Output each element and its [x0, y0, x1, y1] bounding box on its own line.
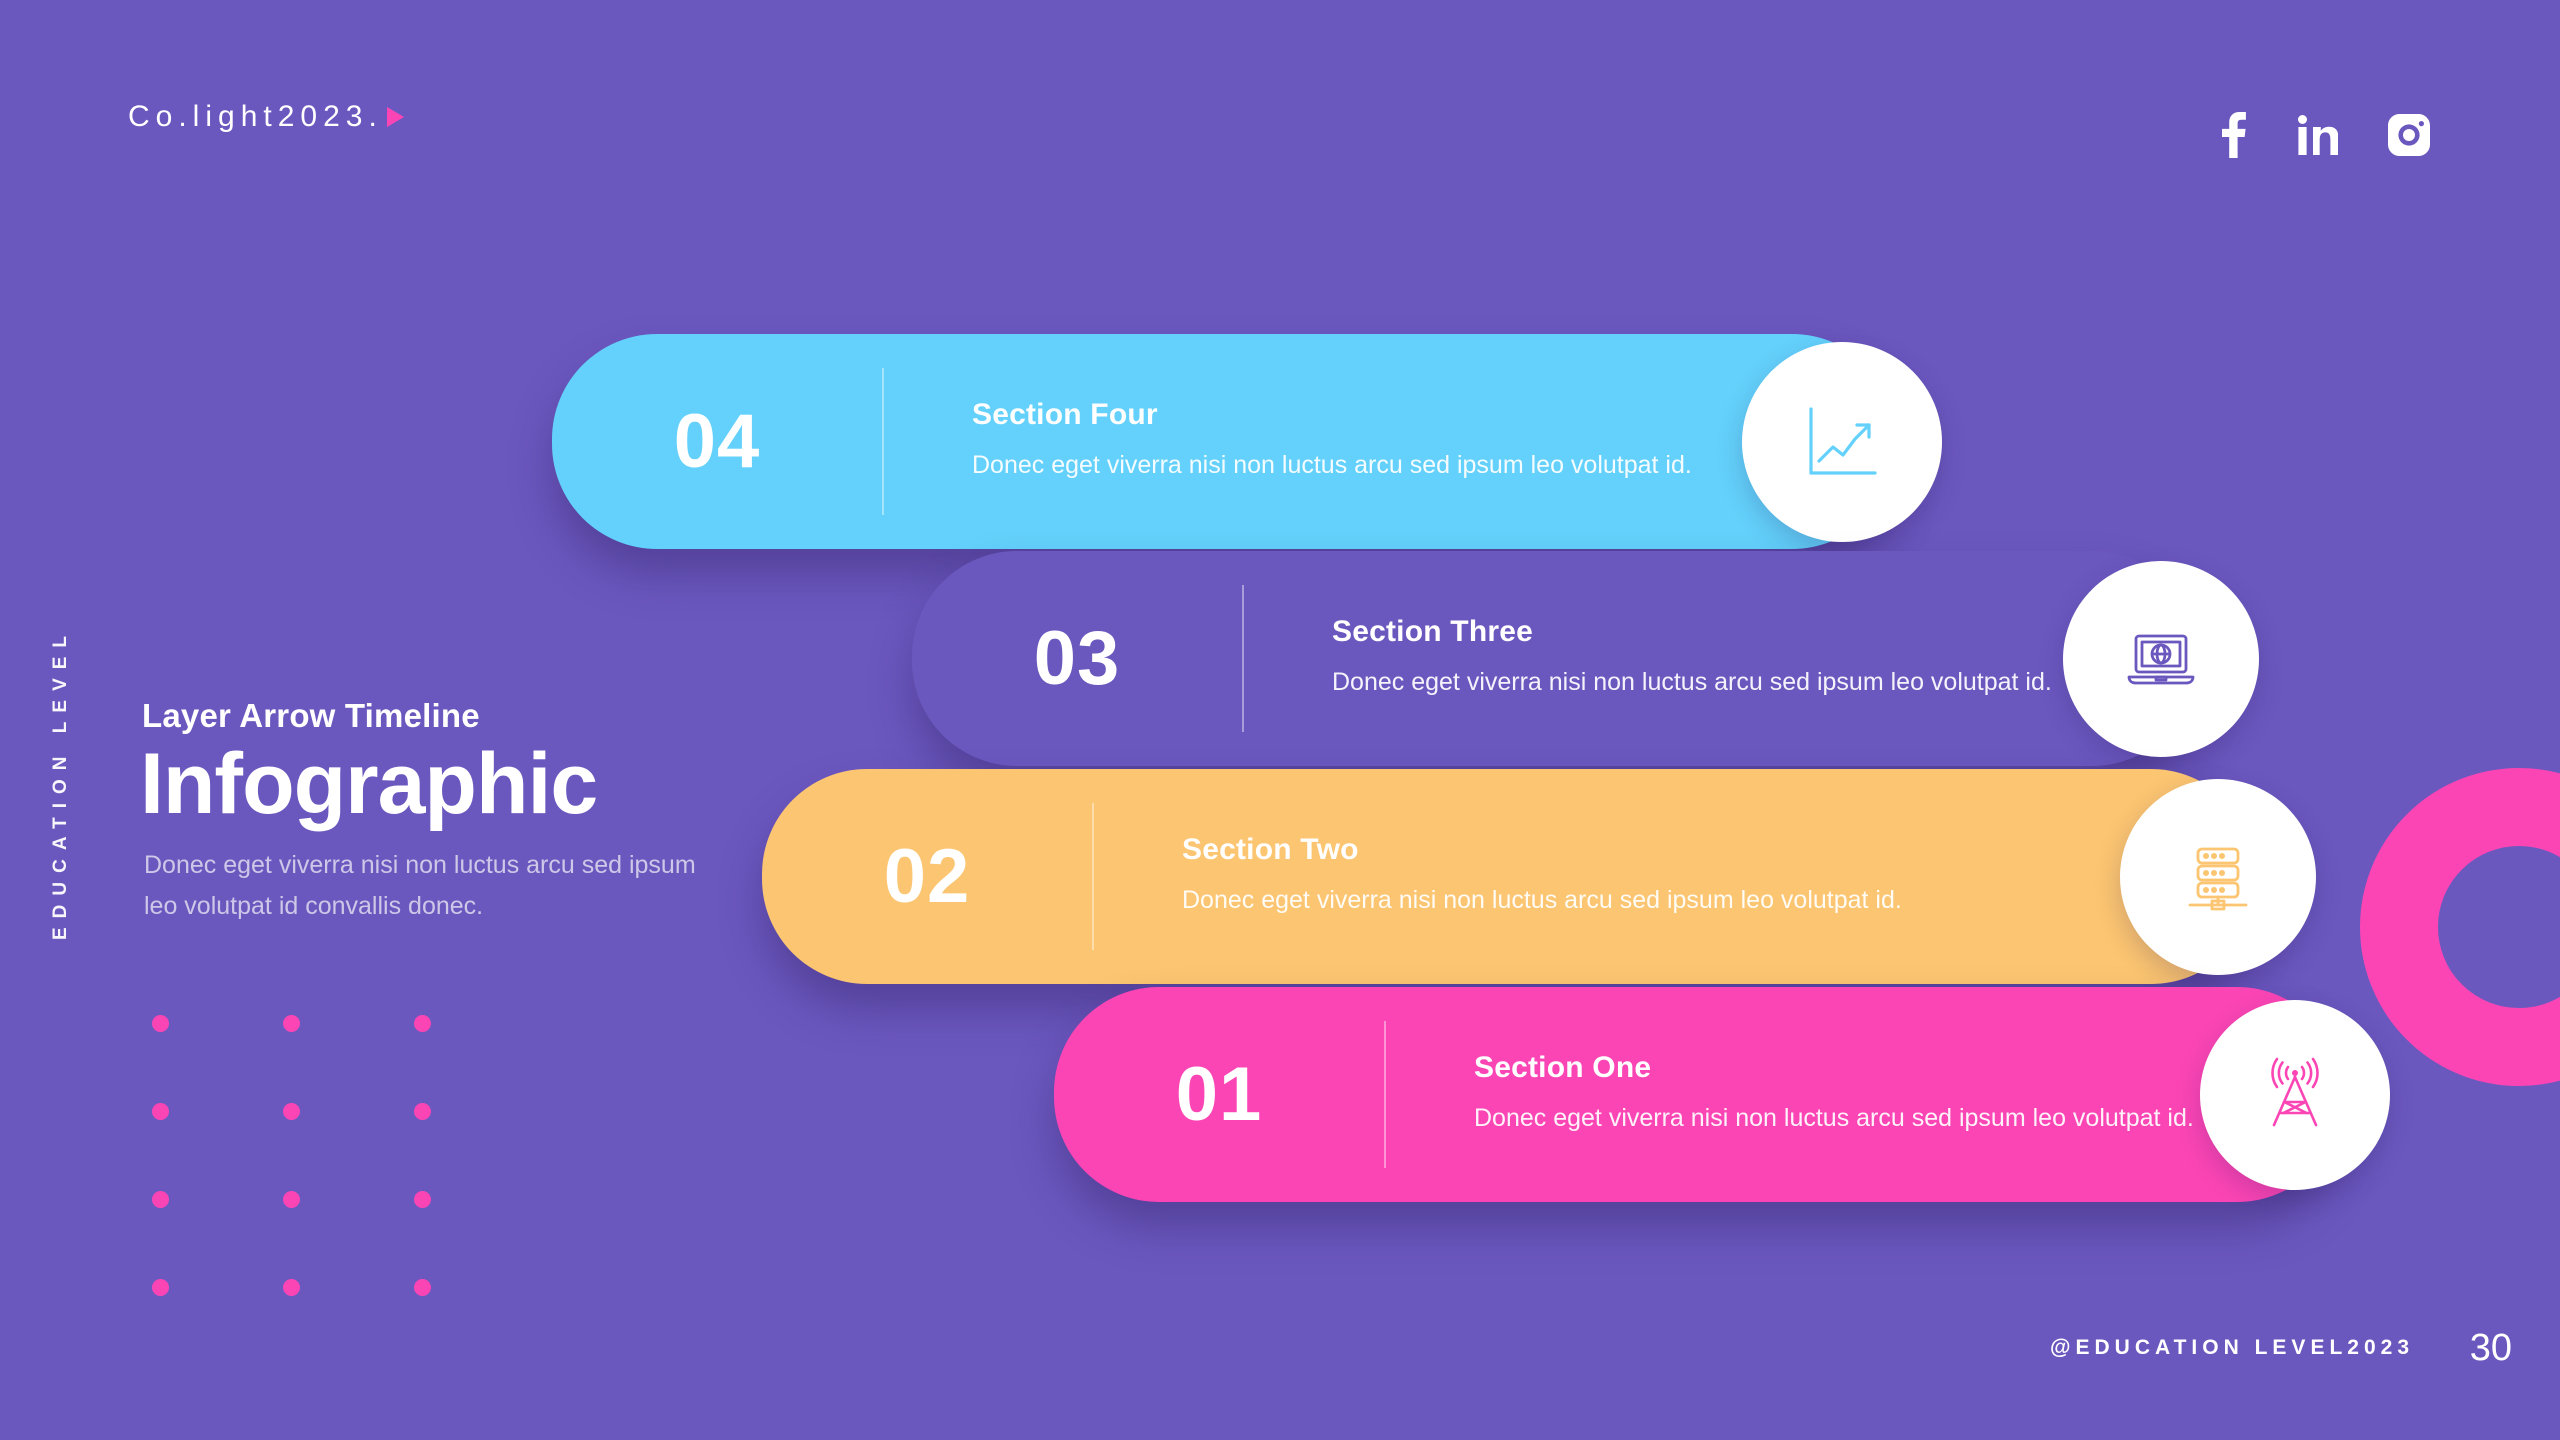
step-title: Section One — [1474, 1051, 2194, 1085]
eyebrow-text: Layer Arrow Timeline — [142, 697, 480, 735]
step-body: Donec eget viverra nisi non luctus arcu … — [1182, 881, 1902, 921]
play-triangle-icon — [387, 107, 404, 127]
step-title: Section Four — [972, 398, 1692, 432]
timeline-item-03[interactable]: 03 Section Three Donec eget viverra nisi… — [912, 551, 2197, 766]
instagram-icon[interactable] — [2388, 114, 2430, 156]
ring-decoration — [2360, 768, 2560, 1086]
step-number: 04 — [552, 404, 882, 480]
step-body: Donec eget viverra nisi non luctus arcu … — [972, 446, 1692, 486]
step-number: 01 — [1054, 1057, 1384, 1133]
vertical-section-label: EDUCATION LEVEL — [50, 520, 72, 940]
timeline-item-02[interactable]: 02 Section Two Donec eget viverra nisi n… — [762, 769, 2256, 984]
laptop-globe-icon — [2119, 617, 2203, 701]
brand-logo-text: Co.light2023. — [128, 100, 383, 134]
intro-body-text: Donec eget viverra nisi non luctus arcu … — [144, 845, 704, 926]
step-body: Donec eget viverra nisi non luctus arcu … — [1474, 1099, 2194, 1139]
broadcast-tower-icon — [2254, 1054, 2336, 1136]
page-number: 30 — [2470, 1327, 2512, 1370]
step-copy: Section Four Donec eget viverra nisi non… — [884, 398, 1692, 486]
line-chart-growth-icon — [1799, 399, 1885, 485]
brand-logo: Co.light2023. — [128, 100, 404, 134]
facebook-icon[interactable] — [2220, 112, 2248, 158]
step-icon-badge[interactable] — [2063, 561, 2259, 757]
social-links — [2220, 112, 2430, 158]
page-title: Infographic — [140, 735, 597, 834]
step-copy: Section Three Donec eget viverra nisi no… — [1244, 615, 2052, 703]
step-number: 03 — [912, 621, 1242, 697]
step-body: Donec eget viverra nisi non luctus arcu … — [1332, 663, 2052, 703]
footer-handle: @EDUCATION LEVEL2023 — [2050, 1336, 2414, 1360]
dot-grid-decoration — [152, 1015, 545, 1367]
slide-canvas: Co.light2023. EDUCATION LEVEL Layer Arro… — [0, 0, 2560, 1440]
step-icon-badge[interactable] — [2120, 779, 2316, 975]
step-icon-badge[interactable] — [1742, 342, 1942, 542]
step-title: Section Three — [1332, 615, 2052, 649]
step-copy: Section Two Donec eget viverra nisi non … — [1094, 833, 1902, 921]
timeline-item-04[interactable]: 04 Section Four Donec eget viverra nisi … — [552, 334, 1897, 549]
step-title: Section Two — [1182, 833, 1902, 867]
timeline-item-01[interactable]: 01 Section One Donec eget viverra nisi n… — [1054, 987, 2342, 1202]
step-icon-badge[interactable] — [2200, 1000, 2390, 1190]
step-copy: Section One Donec eget viverra nisi non … — [1386, 1051, 2194, 1139]
server-rack-icon — [2176, 835, 2260, 919]
linkedin-icon[interactable] — [2298, 115, 2338, 155]
step-number: 02 — [762, 839, 1092, 915]
